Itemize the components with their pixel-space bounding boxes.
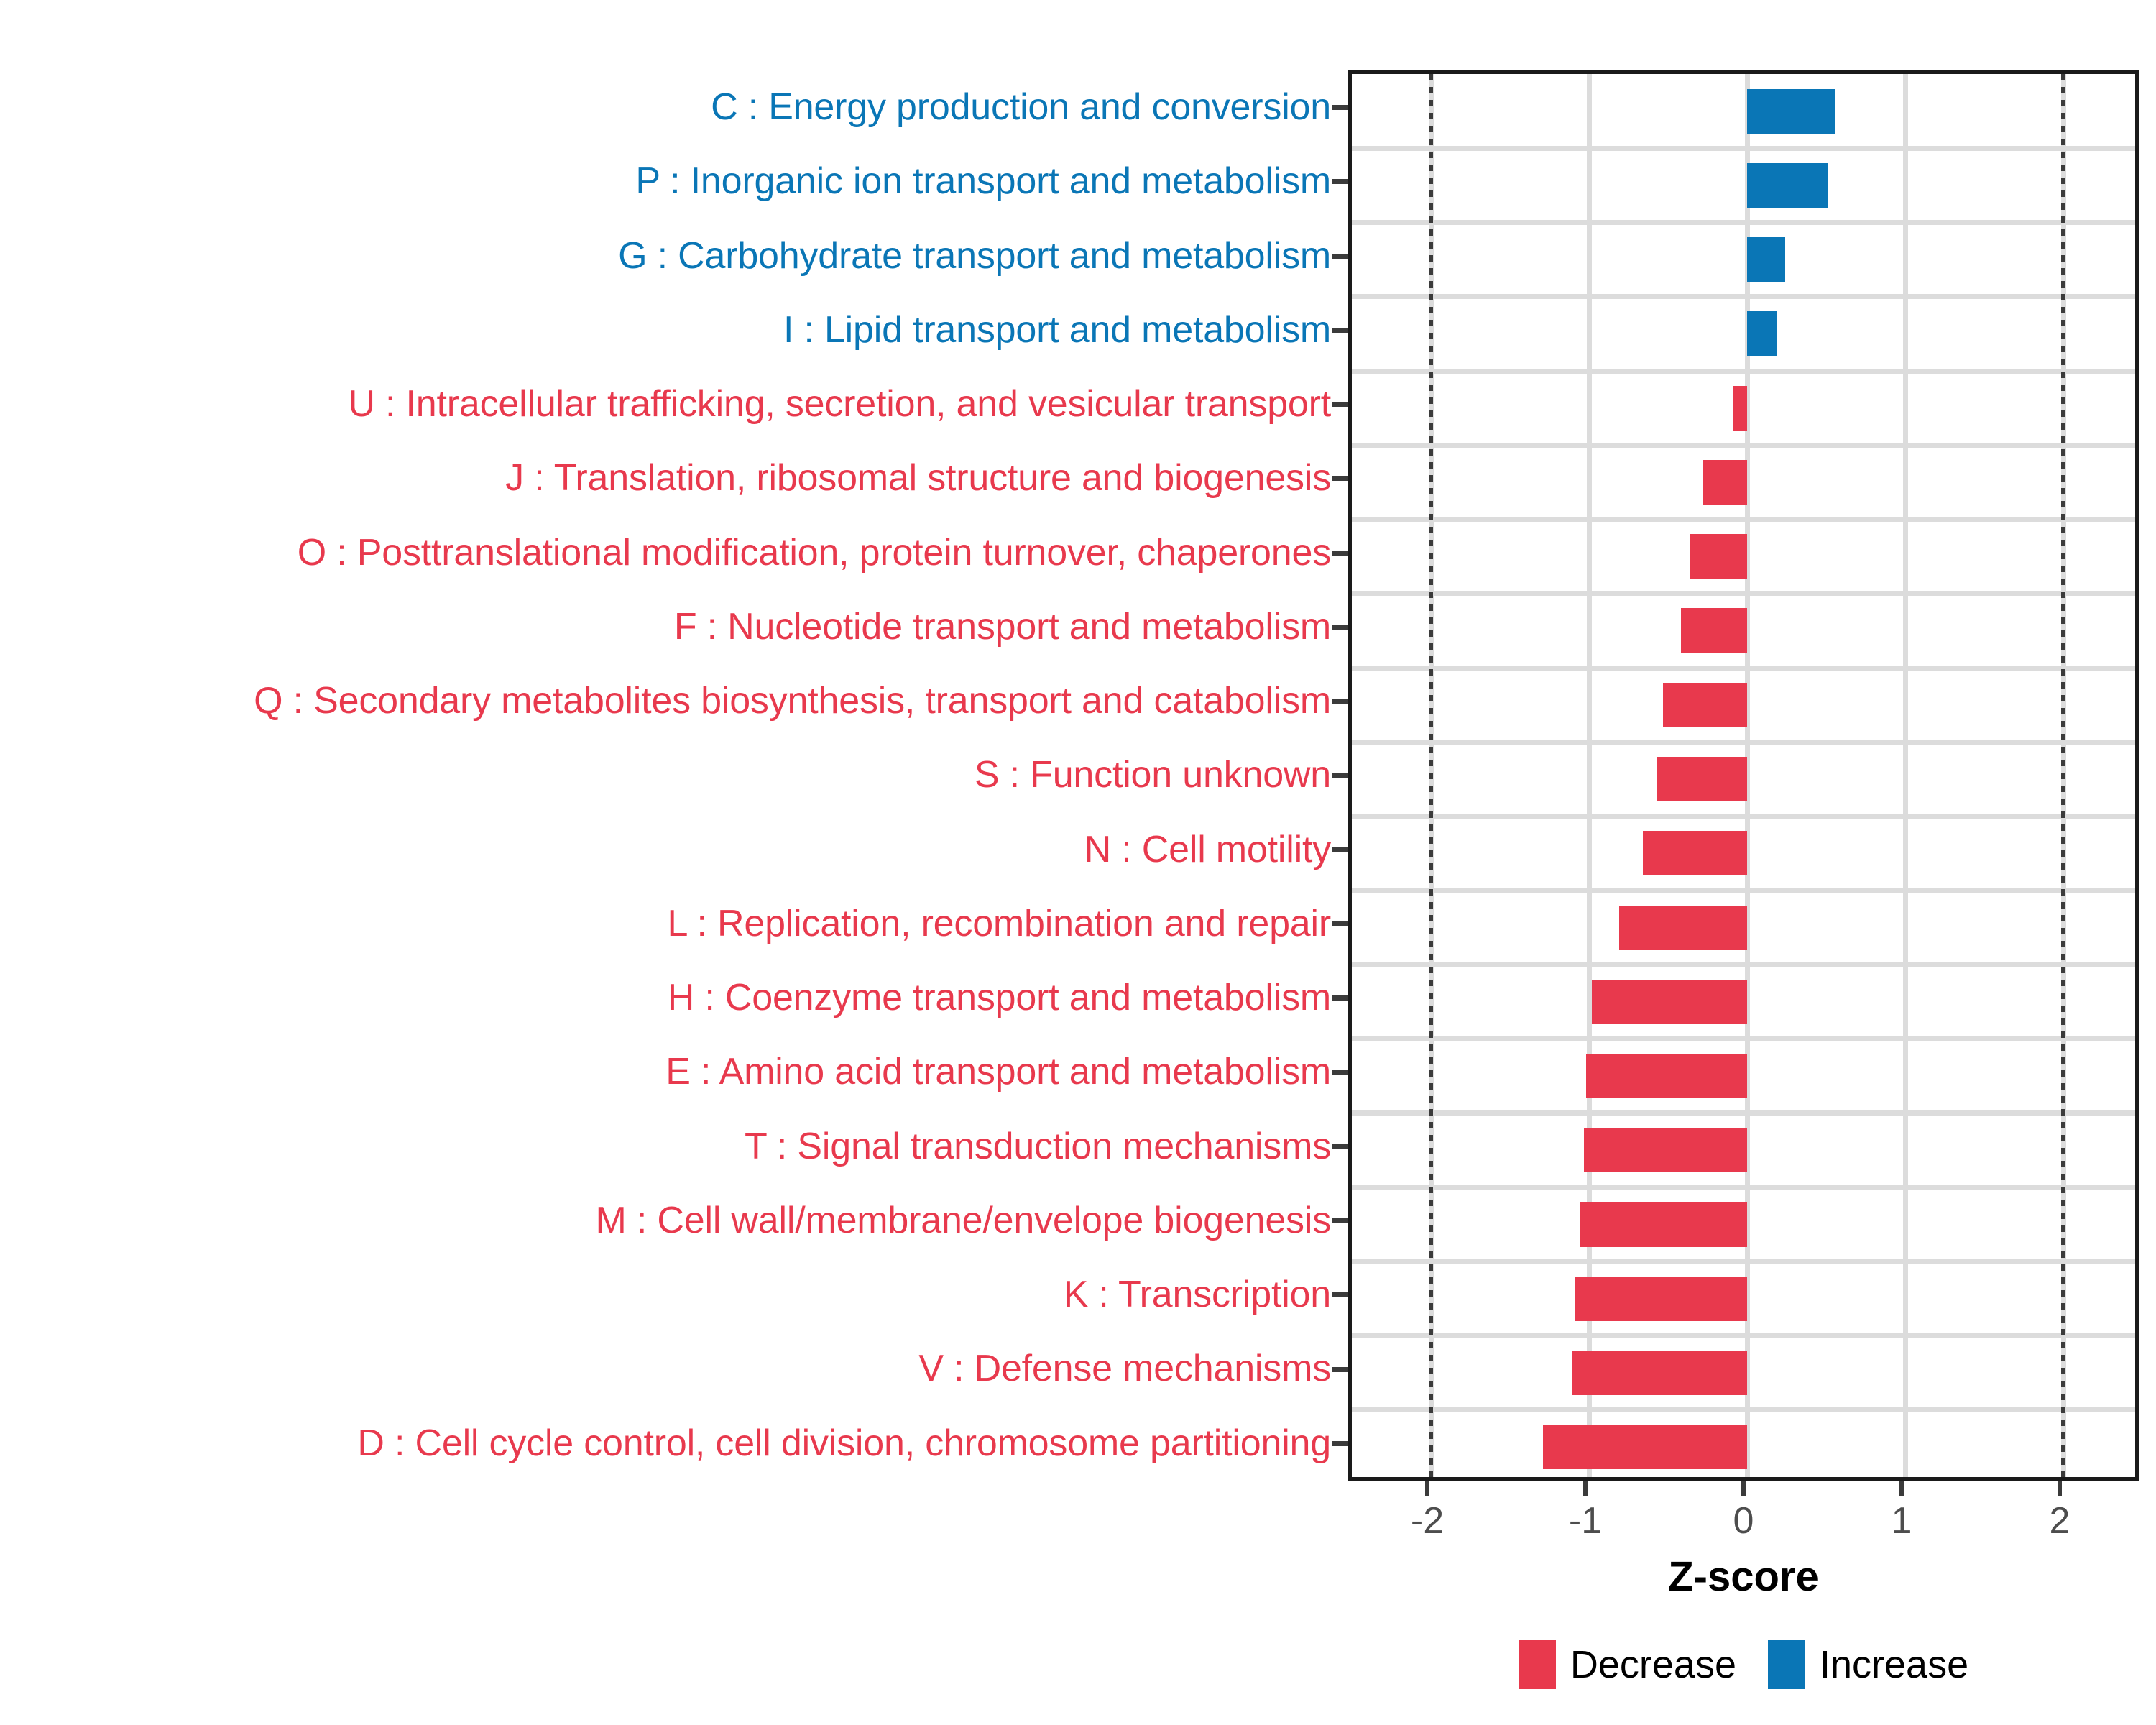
bar [1575,1276,1747,1321]
x-axis-tick [2058,1481,2062,1496]
gridline-horizontal [1352,888,2135,893]
bar [1703,460,1747,505]
y-axis-tick [1332,773,1348,778]
y-axis-label: J : Translation, ribosomal structure and… [505,441,1331,515]
decrease-swatch-icon [1519,1640,1556,1689]
bar [1747,237,1785,282]
legend: Decrease Increase [1348,1640,2139,1689]
y-axis-tick [1332,402,1348,407]
bar [1643,831,1747,875]
gridline-vertical [1587,74,1592,1477]
legend-label-increase: Increase [1820,1642,1968,1687]
gridline-horizontal [1352,517,2135,522]
reference-line [1429,74,1433,1477]
legend-item-decrease[interactable]: Decrease [1519,1640,1736,1689]
legend-label-decrease: Decrease [1570,1642,1736,1687]
y-axis-tick [1332,1144,1348,1149]
x-axis-tick [1899,1481,1904,1496]
gridline-horizontal [1352,1184,2135,1190]
bar [1580,1202,1747,1247]
gridline-horizontal [1352,1333,2135,1338]
bar [1572,1351,1747,1395]
y-axis-tick [1332,551,1348,556]
x-axis-tick-label: 0 [1733,1499,1754,1542]
bar [1690,534,1747,579]
x-axis-tick [1425,1481,1429,1496]
bar [1663,683,1747,727]
bar [1747,89,1835,134]
y-axis-tick [1332,1441,1348,1446]
y-axis-label: M : Cell wall/membrane/envelope biogenes… [596,1184,1331,1258]
y-axis-tick [1332,1218,1348,1223]
bar [1584,1128,1747,1172]
y-axis-label: O : Posttranslational modification, prot… [298,516,1331,590]
y-axis-label: Q : Secondary metabolites biosynthesis, … [254,664,1331,738]
x-axis-tick-label: 2 [2050,1499,2070,1542]
bar [1543,1425,1747,1469]
y-axis-tick [1332,995,1348,1000]
y-axis-tick [1332,847,1348,852]
x-axis-tick-label: -2 [1411,1499,1444,1542]
y-axis-tick [1332,699,1348,704]
y-axis-label: K : Transcription [1064,1258,1331,1332]
y-axis-tick [1332,1070,1348,1075]
gridline-horizontal [1352,369,2135,374]
bar [1733,386,1747,431]
y-axis-label: N : Cell motility [1084,813,1331,887]
y-axis-tick [1332,328,1348,333]
gridline-horizontal [1352,666,2135,671]
y-axis-label: G : Carbohydrate transport and metabolis… [618,219,1331,293]
legend-item-increase[interactable]: Increase [1768,1640,1968,1689]
y-axis-label: U : Intracellular trafficking, secretion… [348,367,1331,441]
y-axis-label: I : Lipid transport and metabolism [783,293,1331,367]
y-axis-label: L : Replication, recombination and repai… [667,887,1331,961]
gridline-horizontal [1352,1407,2135,1412]
y-axis-tick [1332,254,1348,259]
y-axis-label: S : Function unknown [975,738,1331,812]
plot-panel-inner [1352,74,2135,1477]
gridline-horizontal [1352,146,2135,151]
bar [1586,1054,1747,1098]
y-axis-tick [1332,921,1348,926]
gridline-horizontal [1352,740,2135,745]
y-axis-label: T : Signal transduction mechanisms [745,1110,1331,1184]
bar [1657,757,1747,801]
y-axis-label: H : Coenzyme transport and metabolism [668,961,1331,1035]
bar [1747,311,1777,356]
bar [1619,906,1747,950]
y-axis-label: E : Amino acid transport and metabolism [665,1035,1331,1109]
x-axis-title: Z-score [1348,1552,2139,1601]
x-axis-tick [1741,1481,1746,1496]
y-axis-tick [1332,625,1348,630]
bar [1747,163,1828,208]
y-axis-label: V : Defense mechanisms [918,1332,1331,1406]
plot-panel [1348,70,2139,1481]
cog-zscore-bar-chart: C : Energy production and conversionP : … [0,0,2156,1725]
bar [1681,608,1747,653]
gridline-horizontal [1352,1036,2135,1041]
y-axis-tick [1332,179,1348,184]
gridline-horizontal [1352,220,2135,225]
x-axis-tick [1583,1481,1588,1496]
x-axis-tick-label: -1 [1569,1499,1602,1542]
gridline-horizontal [1352,443,2135,448]
bar [1592,980,1747,1024]
y-axis-tick [1332,105,1348,110]
gridline-horizontal [1352,1259,2135,1264]
x-axis-tick-label: 1 [1892,1499,1912,1542]
y-axis-tick [1332,476,1348,481]
gridline-horizontal [1352,962,2135,967]
gridline-horizontal [1352,1110,2135,1115]
y-axis-tick [1332,1367,1348,1372]
y-axis-label: F : Nucleotide transport and metabolism [674,590,1331,664]
y-axis-tick [1332,1292,1348,1297]
y-axis-label: D : Cell cycle control, cell division, c… [357,1407,1331,1481]
y-axis-category-labels: C : Energy production and conversionP : … [0,70,1341,1481]
reference-line [2061,74,2065,1477]
gridline-horizontal [1352,294,2135,299]
gridline-horizontal [1352,814,2135,819]
y-axis-label: C : Energy production and conversion [711,70,1331,144]
y-axis-label: P : Inorganic ion transport and metaboli… [635,144,1331,218]
gridline-horizontal [1352,591,2135,596]
increase-swatch-icon [1768,1640,1805,1689]
gridline-vertical [1903,74,1908,1477]
